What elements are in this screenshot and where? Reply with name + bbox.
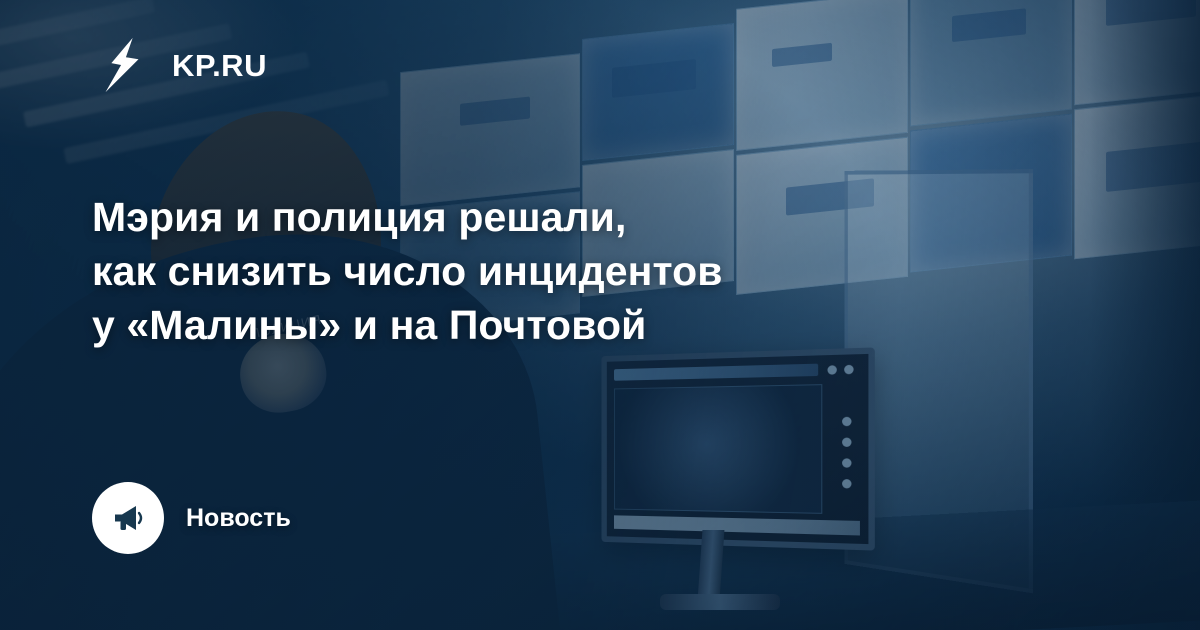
megaphone-icon — [108, 498, 148, 538]
headline-line-3: у «Малины» и на Почтовой — [92, 298, 992, 352]
badge-label: Новость — [186, 504, 291, 533]
brand-name: KP.RU — [172, 50, 267, 81]
headline: Мэрия и полиция решали, как снизить числ… — [92, 190, 992, 352]
badge-circle — [92, 482, 164, 554]
kp-bird-logo-icon — [92, 34, 154, 96]
headline-line-1: Мэрия и полиция решали, — [92, 190, 992, 244]
headline-line-2: как снизить число инцидентов — [92, 244, 992, 298]
brand-lockup: KP.RU — [92, 34, 267, 96]
news-badge: Новость — [92, 482, 291, 554]
social-share-card: ПОЛИЦИЯ KP.RU Мэрия и полиция решали, ка… — [0, 0, 1200, 630]
